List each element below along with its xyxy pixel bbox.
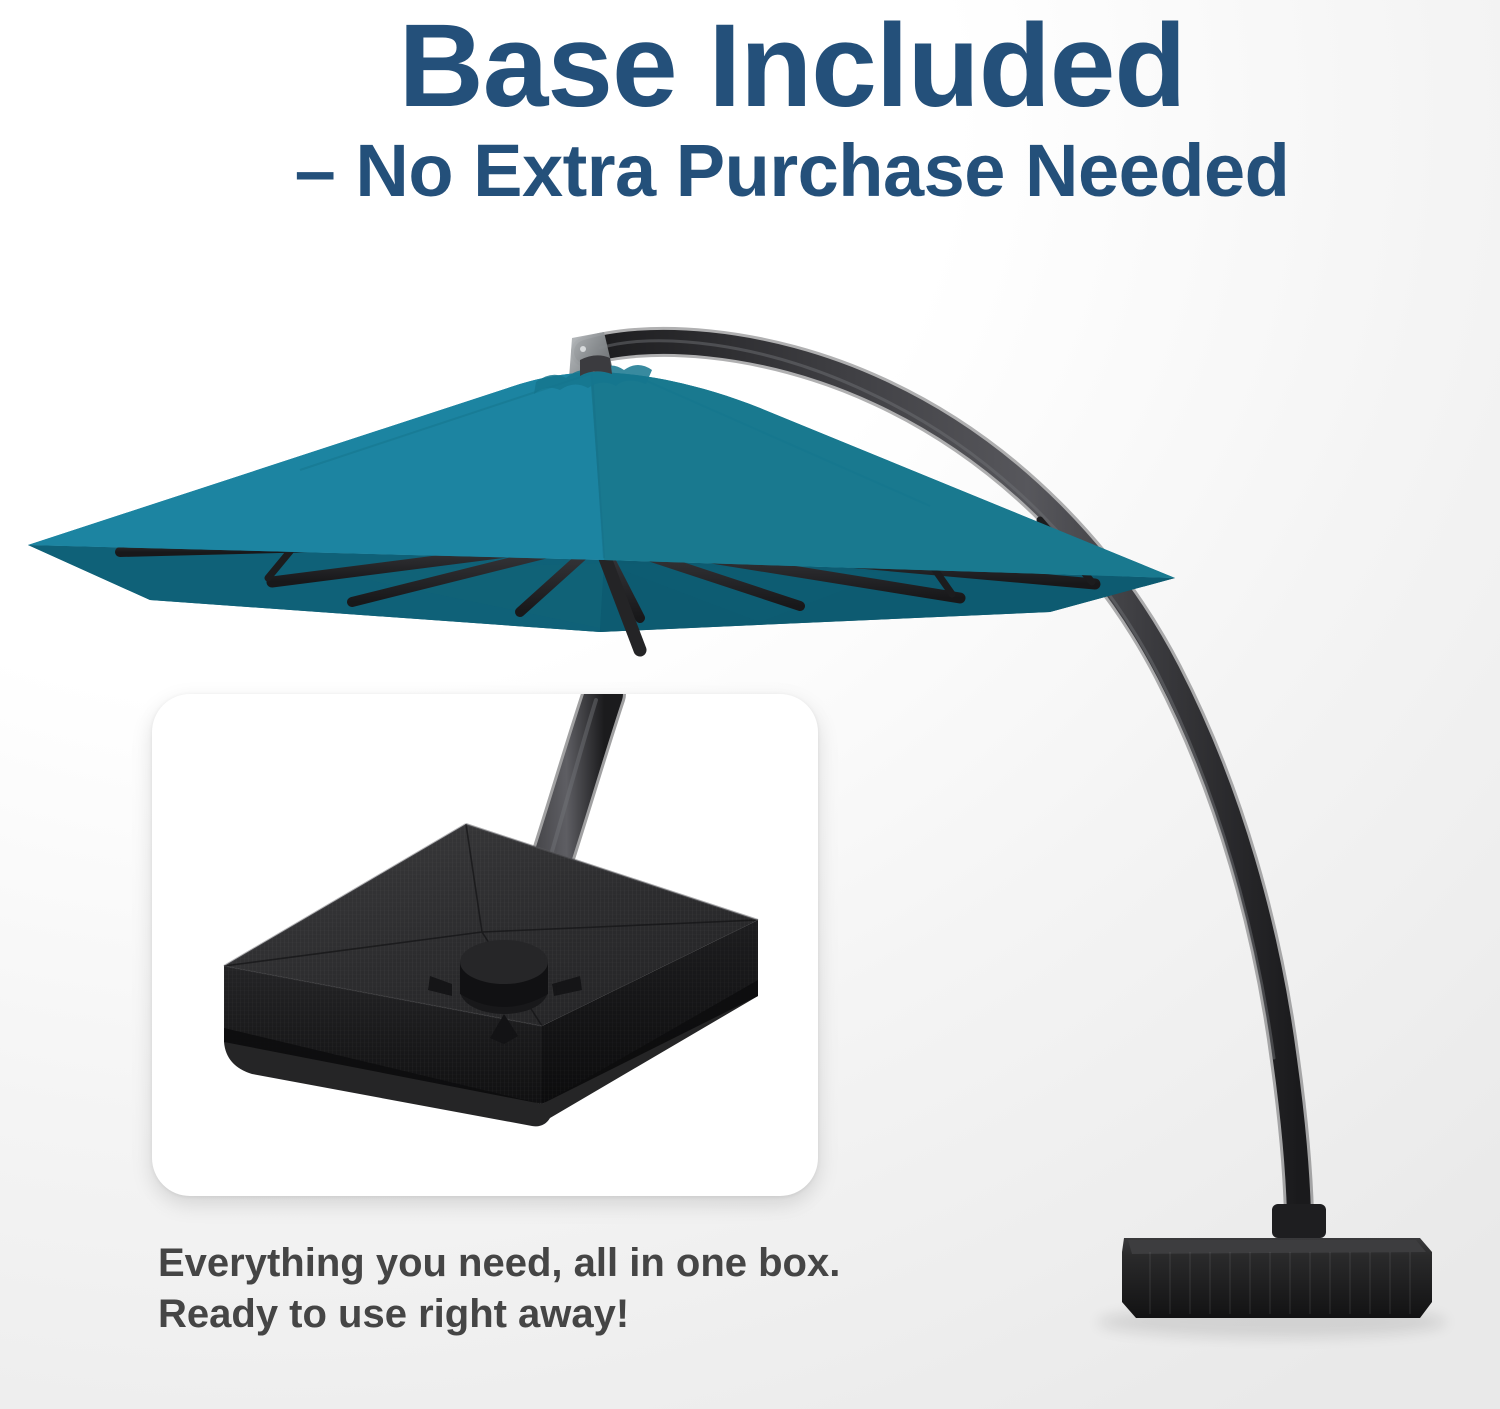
headline-line-1: Base Included bbox=[132, 6, 1452, 126]
pole-lower bbox=[1272, 1200, 1326, 1238]
base-closeup-panel bbox=[152, 694, 818, 1196]
headline-line-2: – No Extra Purchase Needed bbox=[132, 132, 1452, 210]
caption-text: Everything you need, all in one box. Rea… bbox=[158, 1238, 858, 1340]
umbrella-base-main bbox=[1097, 1238, 1447, 1338]
canopy-underside bbox=[28, 545, 1175, 632]
canopy-top bbox=[28, 355, 1175, 578]
base-closeup-illustration bbox=[152, 694, 818, 1196]
headline-block: Base Included – No Extra Purchase Needed bbox=[132, 6, 1452, 210]
canopy-ribs bbox=[120, 520, 1095, 650]
product-marketing-image: Base Included – No Extra Purchase Needed bbox=[0, 0, 1500, 1409]
